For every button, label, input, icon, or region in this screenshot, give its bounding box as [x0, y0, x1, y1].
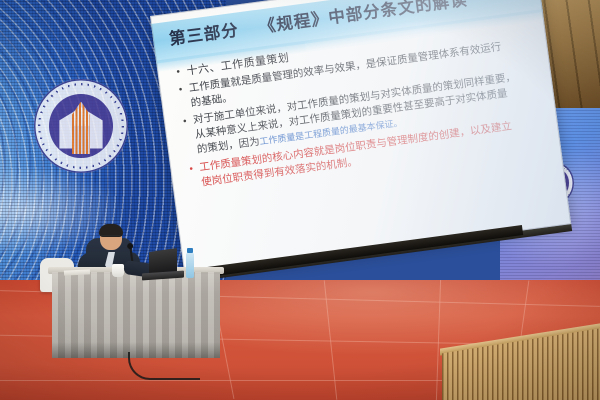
water-bottle [186, 252, 194, 278]
glasses-icon [101, 235, 120, 240]
bottle-cap [187, 248, 193, 253]
floor-cable [128, 352, 200, 380]
organization-emblem-icon [34, 79, 128, 173]
presenter-table [52, 272, 220, 358]
conference-hall-photo: 第三部分 《规程》中部分条文的解读 • 十六、工作质量策划 • 工作质量就是质量… [0, 0, 600, 400]
white-cup [112, 264, 124, 277]
